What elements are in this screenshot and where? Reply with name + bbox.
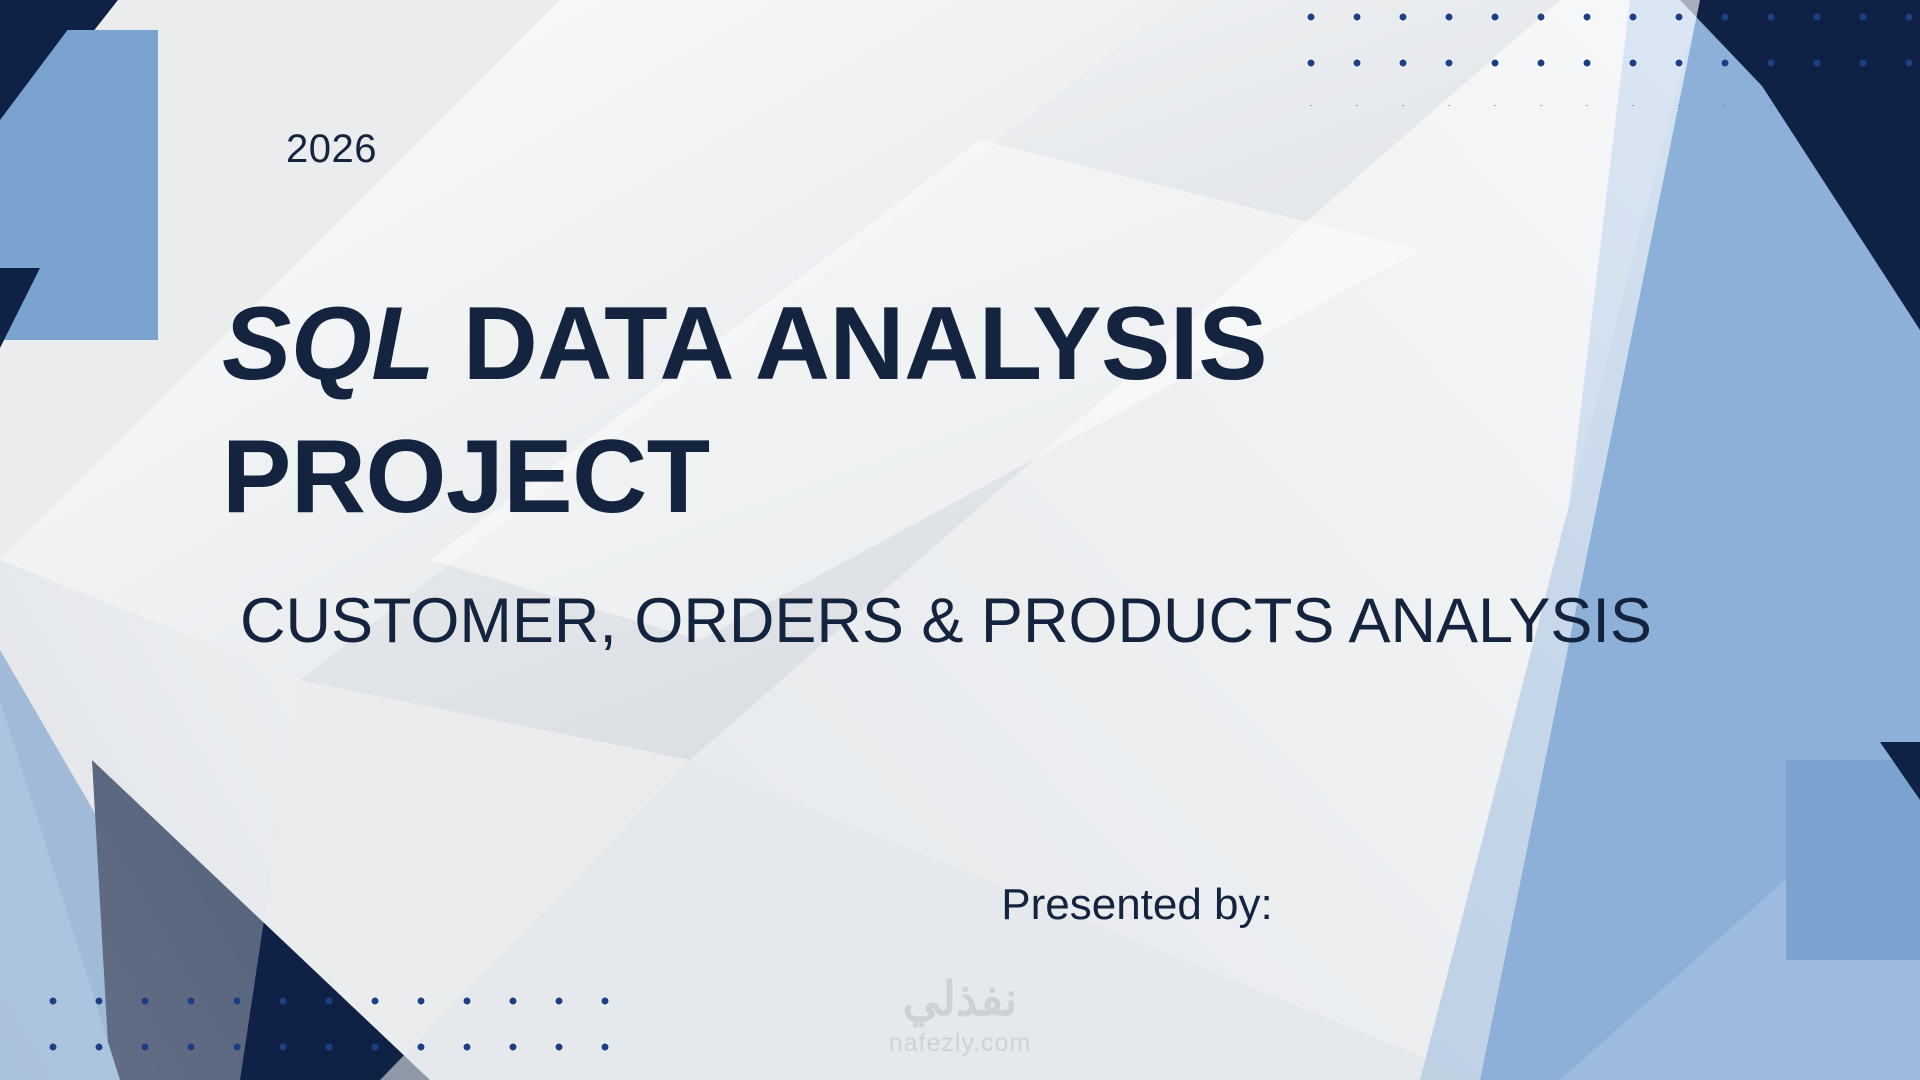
presented-by-label: Presented by: [1001, 880, 1273, 930]
slide-subtitle: CUSTOMER, ORDERS & PRODUCTS ANALYSIS [240, 580, 1660, 664]
slide-year: 2026 [286, 127, 377, 172]
watermark: نفذلي nafezly.com [889, 975, 1032, 1056]
watermark-site-text: nafezly.com [889, 1031, 1032, 1056]
slide-title: SQL DATA ANALYSIS PROJECT [222, 278, 1602, 544]
slide-text-block: 2026 SQL DATA ANALYSIS PROJECT CUSTOMER,… [0, 0, 1920, 1080]
presentation-slide: 2026 SQL DATA ANALYSIS PROJECT CUSTOMER,… [0, 0, 1920, 1080]
slide-title-emphasis: SQL [222, 286, 434, 402]
watermark-arabic-text: نفذلي [889, 975, 1032, 1022]
